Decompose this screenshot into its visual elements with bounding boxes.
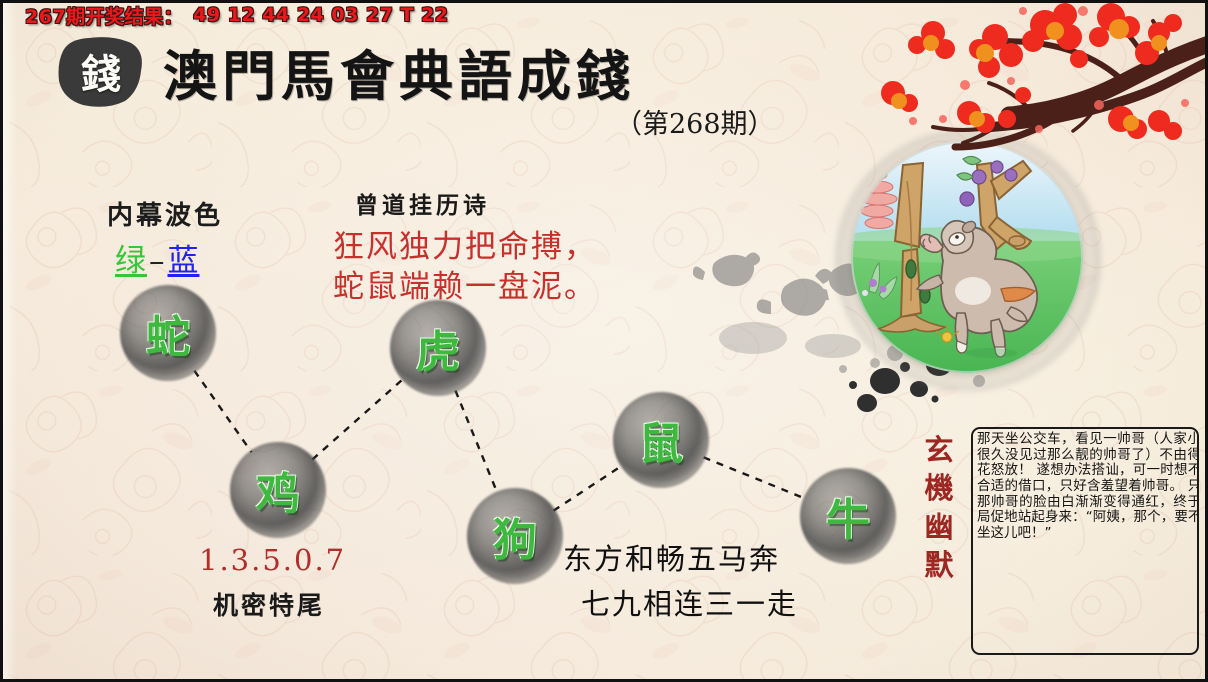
wave-color-separator: –	[147, 243, 168, 279]
wave-color-2: 蓝	[168, 243, 200, 279]
secret-tail-numbers: 1.3.5.0.7	[199, 543, 346, 577]
poster-canvas: 267期开奖结果： 49 12 44 24 03 27 T 22	[0, 0, 1208, 682]
poem-line-1: 狂风独力把命搏，	[333, 221, 597, 266]
zodiac-node-label: 鼠	[613, 392, 709, 488]
poem-line-2: 蛇鼠端赖一盘泥。	[333, 261, 597, 306]
humor-body-text: 那天坐公交车，看见一帅哥（人家小姐很久没见过那么靓的帅哥了）不由得心花怒放！ 遂…	[973, 429, 1199, 542]
zodiac-link-虎-狗	[455, 391, 497, 494]
secret-tail-label: 机密特尾	[213, 586, 325, 622]
zodiac-node-狗[interactable]: 狗	[467, 488, 563, 584]
humor-vertical-char-3: 默	[919, 546, 959, 584]
zodiac-node-鸡[interactable]: 鸡	[230, 442, 326, 538]
humor-vertical-char-2: 幽	[919, 508, 959, 546]
humor-vertical-char-1: 機	[919, 469, 959, 507]
seal-character: 錢	[55, 35, 147, 109]
zodiac-node-label: 鸡	[230, 442, 326, 538]
lottery-result-banner: 267期开奖结果： 49 12 44 24 03 27 T 22	[3, 3, 1205, 27]
zodiac-node-label: 蛇	[120, 285, 216, 381]
humor-text-box: 那天坐公交车，看见一帅哥（人家小姐很久没见过那么靓的帅哥了）不由得心花怒放！ 遂…	[971, 427, 1199, 655]
zodiac-node-label: 牛	[800, 468, 896, 564]
humor-vertical-label: 玄機幽默	[919, 431, 959, 584]
humor-vertical-char-0: 玄	[919, 431, 959, 469]
wave-color-label: 内幕波色	[107, 195, 223, 232]
page-title: 澳門馬會典語成錢	[163, 32, 635, 111]
zodiac-link-鼠-牛	[704, 457, 806, 498]
zodiac-node-label: 虎	[390, 300, 486, 396]
zodiac-node-label: 狗	[467, 488, 563, 584]
zodiac-node-牛[interactable]: 牛	[800, 468, 896, 564]
zodiac-link-蛇-鸡	[194, 371, 251, 453]
zodiac-node-蛇[interactable]: 蛇	[120, 285, 216, 381]
saying-line-2: 七九相连三一走	[581, 581, 798, 623]
result-numbers: 49 12 44 24 03 27 T 22	[193, 4, 448, 26]
result-label: 267期开奖结果：	[25, 2, 183, 29]
ink-seal-stamp: 錢	[55, 35, 147, 109]
saying-line-1: 东方和畅五马奔	[563, 536, 780, 578]
wave-color-1: 绿	[115, 243, 147, 279]
wave-color-values: 绿–蓝	[115, 235, 200, 280]
zodiac-node-鼠[interactable]: 鼠	[613, 392, 709, 488]
issue-number: （第268期）	[615, 102, 775, 141]
poem-heading: 曾道挂历诗	[355, 186, 490, 220]
zodiac-node-虎[interactable]: 虎	[390, 300, 486, 396]
